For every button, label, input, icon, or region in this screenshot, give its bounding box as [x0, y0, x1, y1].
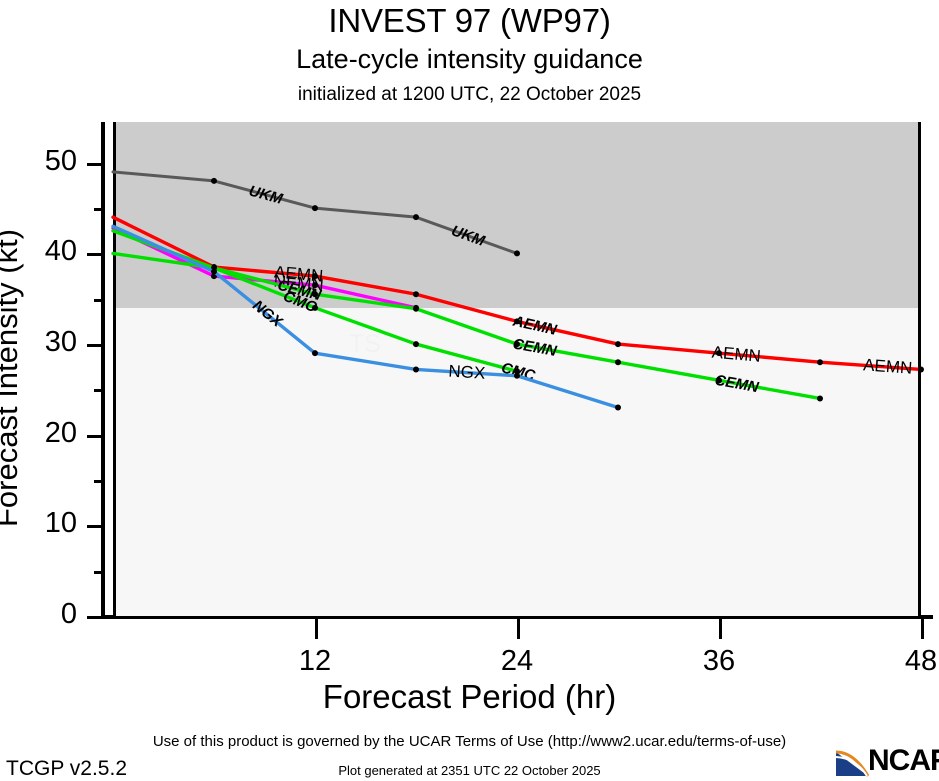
ncar-logo: NCAR — [838, 746, 939, 780]
series-inline-label: UKM — [247, 183, 285, 208]
series-inline-label: UKM — [449, 222, 487, 250]
x-tick-label: 36 — [674, 645, 764, 678]
data-point — [615, 405, 621, 411]
series-ukm: UKMUKM — [113, 172, 520, 257]
y-tick — [87, 525, 105, 528]
chart-series-layer: UKMUKMAEMNAEMNAEMNAEMNNEMNCEMNCEMNCEMNCM… — [113, 122, 921, 616]
series-inline-label: CEMN — [713, 372, 761, 397]
data-point — [211, 269, 217, 275]
page-title: INVEST 97 (WP97) — [0, 2, 939, 40]
chart-plot-area: TS UKMUKMAEMNAEMNAEMNAEMNNEMNCEMNCEMNCEM… — [113, 122, 921, 616]
initialization-time: initialized at 1200 UTC, 22 October 2025 — [0, 84, 939, 106]
data-point — [413, 214, 419, 220]
x-tick — [921, 617, 924, 639]
x-tick — [719, 617, 722, 639]
series-inline-label: AEMN — [711, 343, 762, 366]
y-minor-tick — [94, 480, 105, 483]
data-point — [413, 366, 419, 372]
version-label: TCGP v2.5.2 — [6, 757, 127, 781]
y-tick-label: 50 — [0, 147, 77, 176]
y-tick-label: 20 — [0, 419, 77, 448]
y-minor-tick — [94, 571, 105, 574]
data-point — [817, 395, 823, 401]
series-inline-label: AEMN — [863, 355, 913, 377]
y-tick — [87, 616, 105, 619]
x-tick-label: 24 — [472, 645, 562, 678]
data-point — [413, 306, 419, 312]
y-tick — [87, 253, 105, 256]
data-point — [817, 359, 823, 365]
terms-of-use-text: Use of this product is governed by the U… — [0, 733, 939, 750]
y-minor-tick — [94, 299, 105, 302]
data-point — [615, 359, 621, 365]
y-tick-label: 40 — [0, 237, 77, 266]
y-tick — [87, 435, 105, 438]
series-inline-label: NGX — [448, 362, 486, 383]
page-subtitle: Late-cycle intensity guidance — [0, 44, 939, 75]
y-minor-tick — [94, 389, 105, 392]
series-inline-label: CEMN — [511, 335, 559, 360]
y-axis-title: Forecast Intensity (kt) — [0, 138, 25, 618]
y-tick-label: 0 — [0, 600, 77, 629]
x-tick-label: 48 — [876, 645, 939, 678]
x-tick — [315, 617, 318, 639]
y-tick-label: 10 — [0, 509, 77, 538]
y-tick — [87, 163, 105, 166]
data-point — [514, 250, 520, 256]
y-axis-line — [101, 122, 105, 616]
data-point — [918, 366, 924, 372]
data-point — [413, 341, 419, 347]
y-tick-label: 30 — [0, 328, 77, 357]
ncar-logo-text: NCAR — [868, 744, 939, 778]
x-tick-label: 12 — [270, 645, 360, 678]
data-point — [312, 350, 318, 356]
series-line — [113, 172, 517, 254]
data-point — [312, 205, 318, 211]
data-point — [413, 291, 419, 297]
y-minor-tick — [94, 208, 105, 211]
series-aemn: AEMNAEMNAEMNAEMN — [113, 217, 924, 378]
x-tick — [517, 617, 520, 639]
data-point — [211, 178, 217, 184]
y-tick — [87, 344, 105, 347]
plot-generated-text: Plot generated at 2351 UTC 22 October 20… — [0, 763, 939, 778]
data-point — [514, 373, 520, 379]
data-point — [615, 341, 621, 347]
x-axis-title: Forecast Period (hr) — [0, 678, 939, 716]
